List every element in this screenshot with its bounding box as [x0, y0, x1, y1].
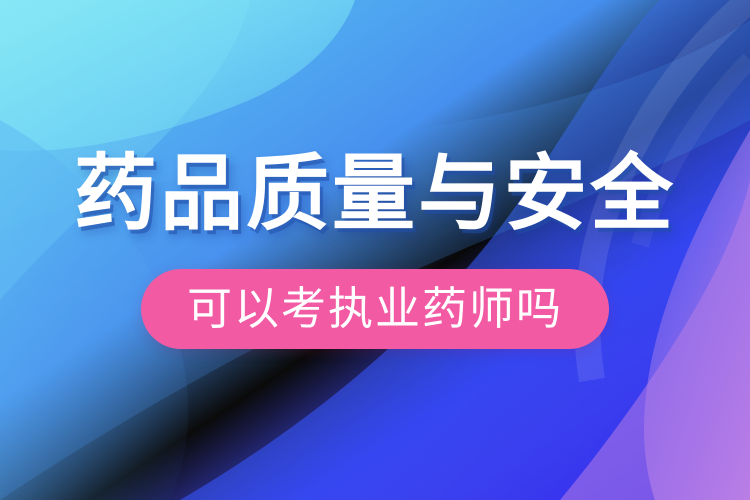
- banner-badge: 可以考执业药师吗: [141, 269, 609, 349]
- promo-banner: 药品质量与安全 可以考执业药师吗: [0, 0, 750, 500]
- banner-headline: 药品质量与安全: [74, 152, 676, 235]
- banner-content: 药品质量与安全 可以考执业药师吗: [0, 0, 750, 500]
- banner-badge-label: 可以考执业药师吗: [187, 286, 563, 331]
